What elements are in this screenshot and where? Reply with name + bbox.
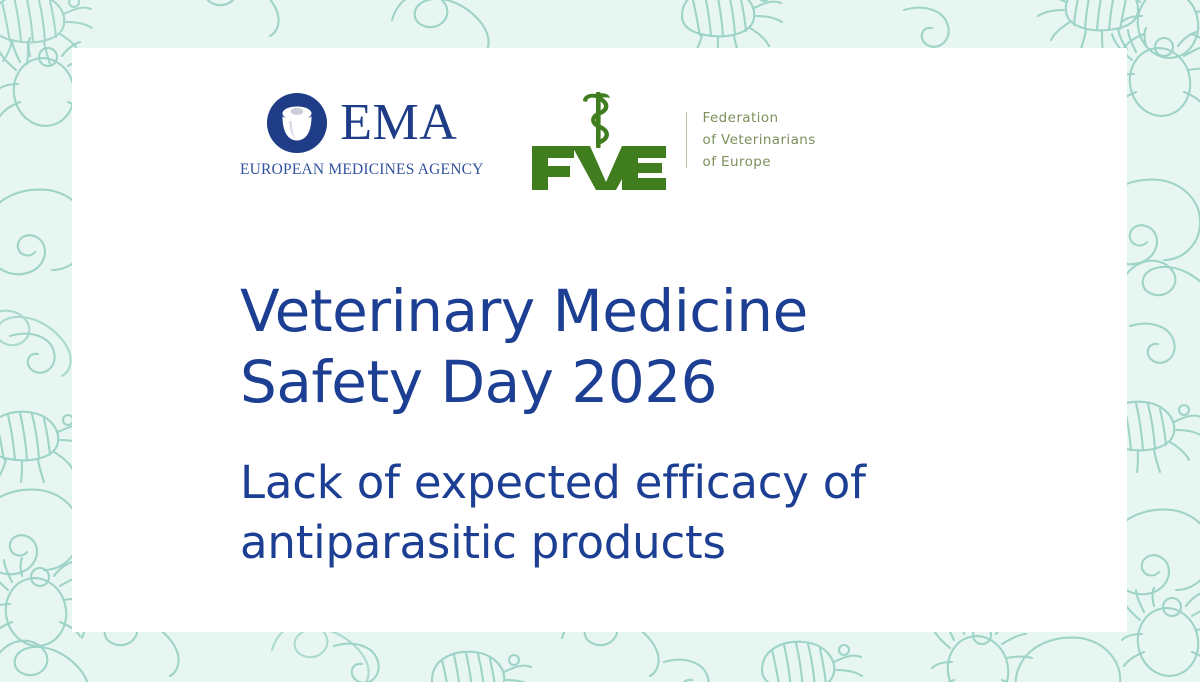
page-title: Veterinary Medicine Safety Day 2026 bbox=[240, 276, 866, 419]
headline-block: Veterinary Medicine Safety Day 2026 Lack… bbox=[240, 276, 866, 574]
poster: EMA EUROPEAN MEDICINES AGENCY bbox=[0, 0, 1200, 682]
page-subtitle: Lack of expected efficacy of antiparasit… bbox=[240, 419, 866, 575]
title-line-2: Safety Day 2026 bbox=[240, 348, 717, 416]
ema-logo: EMA EUROPEAN MEDICINES AGENCY bbox=[240, 86, 484, 179]
ema-mortar-circle-icon bbox=[266, 92, 328, 154]
subtitle-line-2: antiparasitic products bbox=[240, 516, 726, 569]
fve-descriptor: Federation of Veterinarians of Europe bbox=[703, 107, 816, 173]
fve-rod-of-asclepius-icon bbox=[530, 88, 670, 192]
fve-descriptor-line-3: of Europe bbox=[703, 151, 816, 173]
fve-logo: Federation of Veterinarians of Europe bbox=[530, 86, 816, 192]
fve-descriptor-line-2: of Veterinarians bbox=[703, 129, 816, 151]
ema-logo-top: EMA bbox=[266, 92, 457, 154]
logo-row: EMA EUROPEAN MEDICINES AGENCY bbox=[240, 86, 816, 192]
ema-tagline: EUROPEAN MEDICINES AGENCY bbox=[240, 161, 484, 179]
subtitle-line-1: Lack of expected efficacy of bbox=[240, 456, 866, 509]
fve-descriptor-line-1: Federation bbox=[703, 107, 816, 129]
ema-wordmark: EMA bbox=[340, 97, 457, 149]
title-line-1: Veterinary Medicine bbox=[240, 277, 808, 345]
fve-divider bbox=[686, 112, 687, 168]
